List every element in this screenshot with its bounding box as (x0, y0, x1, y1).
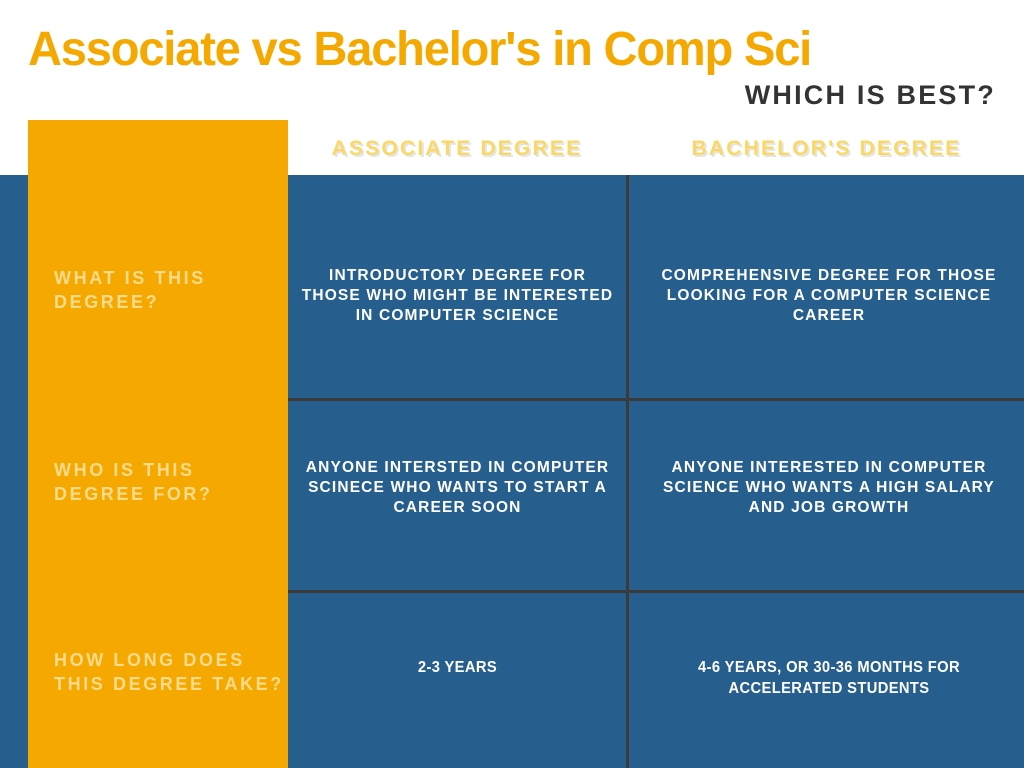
cell-associate-how-long-does-this-degree-take: 2-3 YEARS (313, 658, 603, 679)
column-header-bachelors: BACHELOR'S DEGREE (629, 138, 1024, 159)
cell-associate-what-is-this-degree: INTRODUCTORY DEGREE FOR THOSE WHO MIGHT … (300, 266, 615, 325)
row-label-who-is-this-degree-for: WHO IS THIS DEGREE FOR? (54, 458, 284, 507)
cell-bachelors-what-is-this-degree: COMPREHENSIVE DEGREE FOR THOSE LOOKING F… (645, 266, 1013, 325)
title-area: Associate vs Bachelor's in Comp Sci WHIC… (0, 0, 1024, 120)
row-label-how-long-does-this-degree-take: HOW LONG DOES THIS DEGREE TAKE? (54, 648, 284, 697)
page-title: Associate vs Bachelor's in Comp Sci (28, 26, 811, 74)
column-header-associate: ASSOCIATE DEGREE (288, 138, 626, 159)
column-divider (626, 175, 629, 768)
comparison-infographic: Associate vs Bachelor's in Comp Sci WHIC… (0, 0, 1024, 768)
row-label-what-is-this-degree: WHAT IS THIS DEGREE? (54, 266, 284, 315)
row-divider-1 (288, 398, 1024, 401)
cell-associate-who-is-this-degree-for: ANYONE INTERSTED IN COMPUTER SCINECE WHO… (300, 458, 615, 517)
cell-bachelors-who-is-this-degree-for: ANYONE INTERESTED IN COMPUTER SCIENCE WH… (645, 458, 1013, 517)
cell-bachelors-how-long-does-this-degree-take: 4-6 YEARS, OR 30-36 MONTHS FOR ACCELERAT… (660, 658, 999, 700)
page-subtitle: WHICH IS BEST? (745, 82, 996, 109)
row-divider-2 (288, 590, 1024, 593)
